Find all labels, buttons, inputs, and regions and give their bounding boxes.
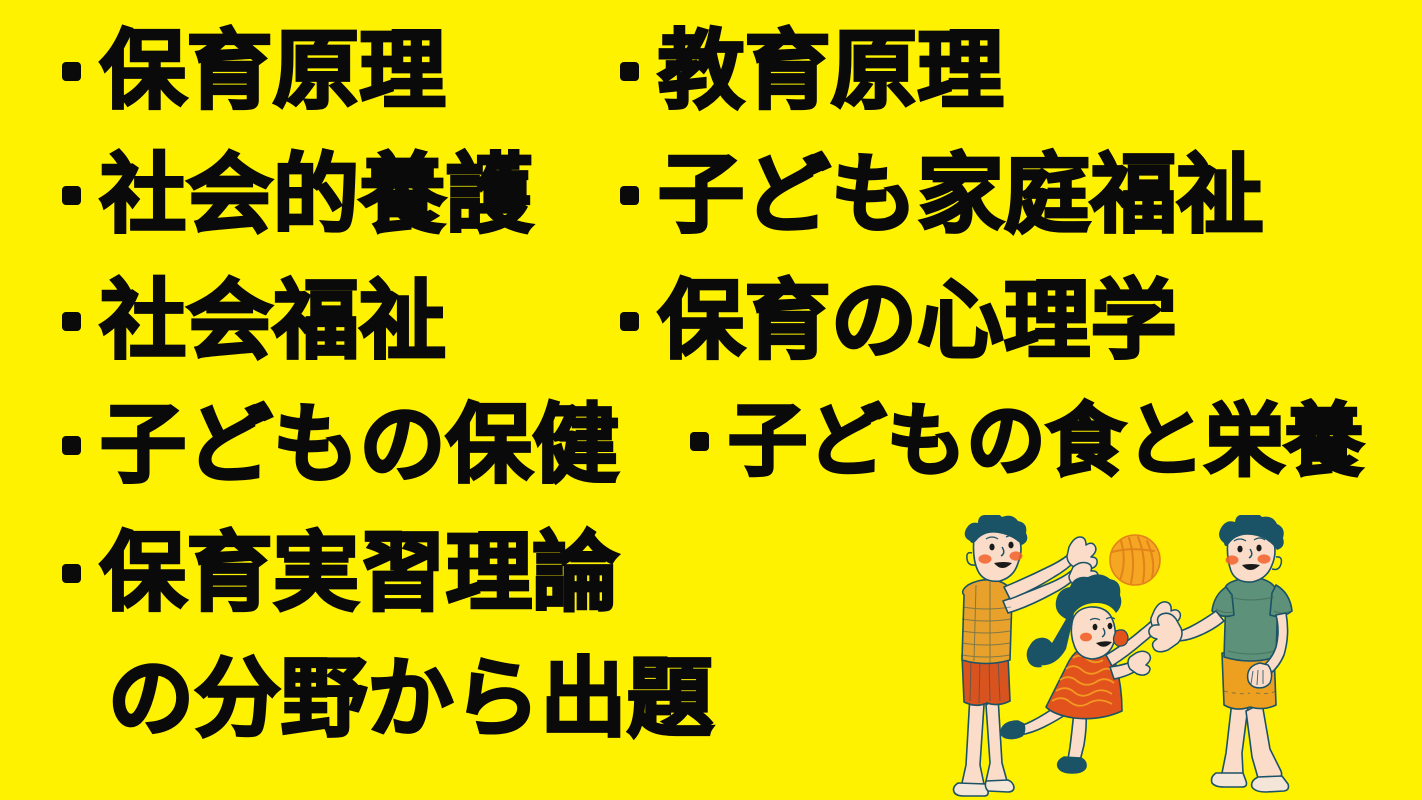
slide-canvas: 保育原理 教育原理 社会的養護 子ども家庭福祉 社会福祉 [0, 0, 1422, 800]
subject-label: 社会福祉 [100, 278, 446, 364]
bullet-dot-icon [62, 564, 81, 583]
bullet-dot-icon [62, 62, 81, 81]
list-item-subject-left-1: 保育原理 [62, 28, 446, 114]
bullet-dot-icon [62, 436, 81, 455]
bullet-dot-icon [690, 432, 709, 451]
bullet-dot-icon [620, 312, 639, 331]
subject-list: 保育原理 教育原理 社会的養護 子ども家庭福祉 社会福祉 [0, 0, 1422, 800]
subject-label: 子どもの食と栄養 [728, 402, 1364, 481]
subject-row: 子どもの保健 子どもの食と栄養 [0, 402, 1422, 527]
list-item-subject-right-2: 子ども家庭福祉 [620, 152, 1264, 238]
list-item-subject-left-4: 子どもの保健 [62, 402, 619, 488]
list-item-subject-left-2: 社会的養護 [62, 152, 533, 238]
subject-label: 保育の心理学 [658, 278, 1177, 364]
subject-row: 社会福祉 保育の心理学 [0, 278, 1422, 403]
bullet-dot-icon [62, 312, 81, 331]
subject-label: 子どもの保健 [100, 402, 619, 488]
closing-line: の分野から出題 [108, 656, 714, 742]
subject-row-closing: の分野から出題 [0, 656, 1422, 781]
subject-row: 保育原理 教育原理 [0, 28, 1422, 153]
subject-label: 保育実習理論 [100, 530, 619, 616]
list-item-subject-right-3: 保育の心理学 [620, 278, 1177, 364]
list-item-subject-right-1: 教育原理 [620, 28, 1004, 114]
list-item-subject-right-4: 子どもの食と栄養 [690, 402, 1364, 481]
list-item-subject-left-3: 社会福祉 [62, 278, 446, 364]
bullet-dot-icon [620, 62, 639, 81]
subject-label: 保育原理 [100, 28, 446, 114]
subject-row: 保育実習理論 [0, 530, 1422, 655]
bullet-dot-icon [620, 186, 639, 205]
list-item-subject-left-5: 保育実習理論 [62, 530, 619, 616]
bullet-dot-icon [62, 186, 81, 205]
closing-label: の分野から出題 [108, 656, 714, 742]
subject-label: 教育原理 [658, 28, 1004, 114]
subject-label: 子ども家庭福祉 [658, 152, 1264, 238]
subject-label: 社会的養護 [100, 152, 533, 238]
subject-row: 社会的養護 子ども家庭福祉 [0, 152, 1422, 277]
